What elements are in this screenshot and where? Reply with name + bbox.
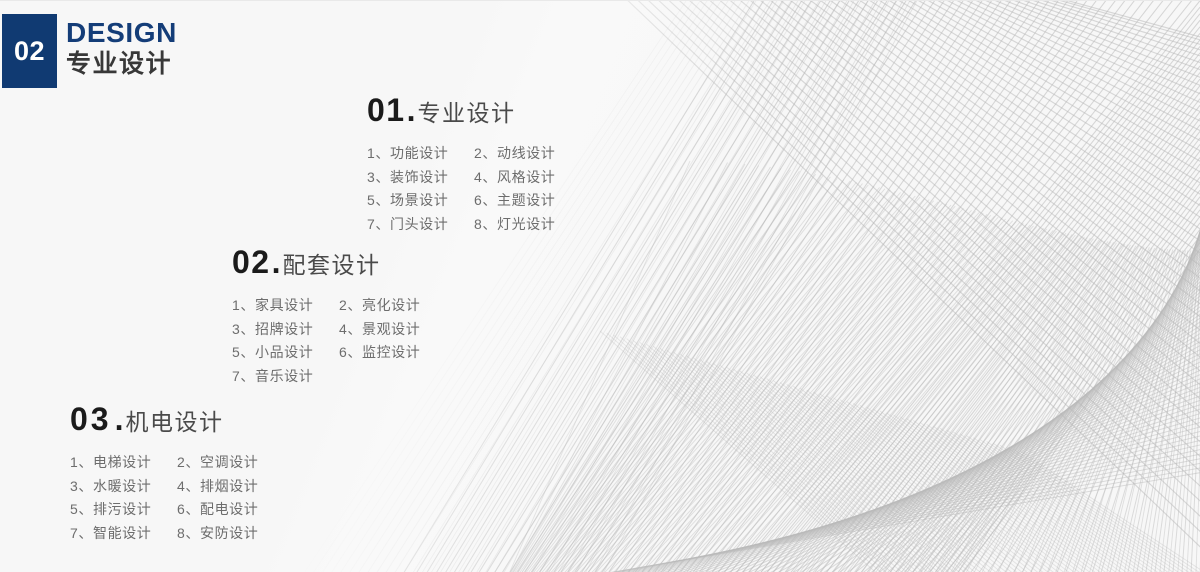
list-row: 1、家具设计 2、亮化设计	[232, 294, 420, 318]
list-item: 4、排烟设计	[177, 475, 258, 499]
section-02-title: 配套设计	[282, 254, 380, 277]
section-03-title: 机电设计	[125, 411, 223, 434]
section-01-title: 专业设计	[417, 102, 515, 125]
section-02-heading: 02 . 配套设计	[232, 246, 420, 278]
list-row: 1、功能设计 2、动线设计	[367, 142, 555, 166]
list-row: 7、门头设计 8、灯光设计	[367, 213, 555, 237]
list-item: 2、亮化设计	[339, 294, 420, 318]
list-item: 7、音乐设计	[232, 365, 339, 389]
slide-canvas: 02 DESIGN 专业设计 01 . 专业设计 1、功能设计 2、动线设计 3…	[0, 0, 1200, 572]
header-title-group: DESIGN 专业设计	[66, 17, 286, 80]
list-item: 6、配电设计	[177, 498, 258, 522]
section-01-dot: .	[407, 94, 416, 126]
list-item: 5、排污设计	[70, 498, 177, 522]
section-number-badge: 02	[2, 14, 57, 88]
list-row: 5、场景设计 6、主题设计	[367, 189, 555, 213]
header-title-cn: 专业设计	[66, 49, 286, 80]
list-row: 3、招牌设计 4、景观设计	[232, 318, 420, 342]
list-item: 2、空调设计	[177, 451, 258, 475]
content-section-01: 01 . 专业设计 1、功能设计 2、动线设计 3、装饰设计 4、风格设计 5、…	[367, 94, 555, 236]
list-item: 4、风格设计	[474, 166, 555, 190]
section-02-item-list: 1、家具设计 2、亮化设计 3、招牌设计 4、景观设计 5、小品设计 6、监控设…	[232, 294, 420, 388]
content-section-02: 02 . 配套设计 1、家具设计 2、亮化设计 3、招牌设计 4、景观设计 5、…	[232, 246, 420, 388]
list-item: 1、电梯设计	[70, 451, 177, 475]
list-row: 7、音乐设计	[232, 365, 420, 389]
list-row: 3、装饰设计 4、风格设计	[367, 166, 555, 190]
list-item: 5、场景设计	[367, 189, 474, 213]
list-item: 6、监控设计	[339, 341, 420, 365]
list-item: 1、家具设计	[232, 294, 339, 318]
list-row: 5、小品设计 6、监控设计	[232, 341, 420, 365]
list-row: 5、排污设计 6、配电设计	[70, 498, 258, 522]
section-03-item-list: 1、电梯设计 2、空调设计 3、水暖设计 4、排烟设计 5、排污设计 6、配电设…	[70, 451, 258, 545]
section-03-dot: .	[115, 403, 124, 435]
section-02-dot: .	[272, 246, 281, 278]
list-item: 3、水暖设计	[70, 475, 177, 499]
list-row: 1、电梯设计 2、空调设计	[70, 451, 258, 475]
list-item: 6、主题设计	[474, 189, 555, 213]
list-item: 4、景观设计	[339, 318, 420, 342]
section-02-number: 02	[232, 246, 271, 278]
section-01-number: 01	[367, 94, 406, 126]
list-item: 8、安防设计	[177, 522, 258, 546]
list-row: 7、智能设计 8、安防设计	[70, 522, 258, 546]
list-row: 3、水暖设计 4、排烟设计	[70, 475, 258, 499]
list-item: 5、小品设计	[232, 341, 339, 365]
list-item: 7、智能设计	[70, 522, 177, 546]
content-section-03: 03 . 机电设计 1、电梯设计 2、空调设计 3、水暖设计 4、排烟设计 5、…	[70, 403, 258, 545]
list-item: 8、灯光设计	[474, 213, 555, 237]
section-01-item-list: 1、功能设计 2、动线设计 3、装饰设计 4、风格设计 5、场景设计 6、主题设…	[367, 142, 555, 236]
header-title-en: DESIGN	[66, 17, 286, 48]
list-item: 3、装饰设计	[367, 166, 474, 190]
section-03-heading: 03 . 机电设计	[70, 403, 258, 435]
list-item: 7、门头设计	[367, 213, 474, 237]
list-item: 3、招牌设计	[232, 318, 339, 342]
list-item: 2、动线设计	[474, 142, 555, 166]
section-01-heading: 01 . 专业设计	[367, 94, 555, 126]
section-03-number: 03	[70, 403, 112, 435]
list-item: 1、功能设计	[367, 142, 474, 166]
